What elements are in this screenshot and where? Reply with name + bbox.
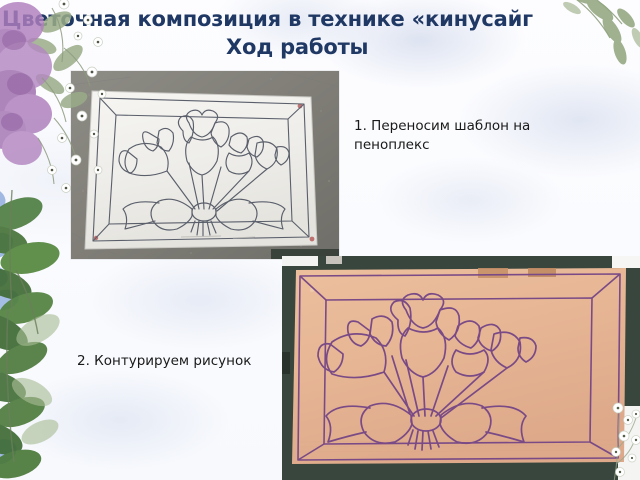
photo-template-on-paper — [71, 71, 339, 259]
page-title: Цветочная композиция в технике «кинусайг… — [0, 6, 640, 61]
slide: Цветочная композиция в технике «кинусайг… — [0, 0, 640, 480]
photo-outline-on-foam — [282, 256, 640, 480]
photo-template-on-paper-image — [71, 71, 339, 259]
page-title-line-1: Цветочная композиция в технике «кинусайг — [0, 6, 640, 34]
step-1-caption: 1. Переносим шаблон на пеноплекс — [354, 117, 594, 155]
page-title-line-2: Ход работы — [0, 34, 640, 62]
photo-outline-on-foam-image — [282, 256, 640, 480]
